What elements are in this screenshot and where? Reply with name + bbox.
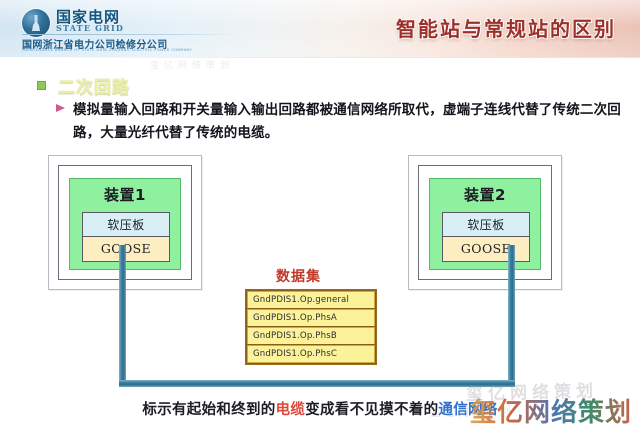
state-grid-logo-block: 国家电网 STATE GRID 国网浙江省电力公司检修分公司 MAINTENAN… [22, 6, 257, 52]
footer-part1: 标示有起始和终到的 [142, 402, 275, 418]
dataset-item: GndPDIS1.Op.PhsC [247, 345, 375, 363]
logo-company-name-en: STATE GRID [56, 23, 124, 33]
dataset-item: GndPDIS1.Op.PhsA [247, 309, 375, 326]
square-bullet-icon [37, 81, 46, 90]
slide-canvas: 国家电网 STATE GRID 国网浙江省电力公司检修分公司 MAINTENAN… [0, 0, 640, 436]
state-grid-logo-icon [22, 9, 50, 37]
slide-header: 国家电网 STATE GRID 国网浙江省电力公司检修分公司 MAINTENAN… [0, 0, 640, 58]
dataset-item: GndPDIS1.Op.PhsB [247, 327, 375, 344]
header-underline [0, 57, 640, 58]
bus-connector-horizontal [119, 380, 515, 387]
device-left-title: 装置1 [70, 184, 180, 205]
dataset-item: GndPDIS1.Op.general [247, 291, 375, 308]
dataset-list: GndPDIS1.Op.general GndPDIS1.Op.PhsA Gnd… [245, 289, 377, 365]
device-right-goose: GOOSE [442, 236, 530, 262]
device-right-title: 装置2 [430, 184, 540, 205]
logo-divider [22, 34, 237, 35]
footer-highlight-cable: 电缆 [276, 402, 306, 418]
slide-title: 智能站与常规站的区别 [396, 13, 616, 42]
device-left-goose: GOOSE [82, 236, 170, 262]
device-panel-right-inner: 装置2 软压板 GOOSE [418, 165, 552, 280]
logo-branch-name-en: MAINTENANCE BRANCH OF STATE GRID ZHEJIAN… [22, 48, 192, 52]
paragraph-text: 模拟量输入回路和开关量输入输出回路都被通信网络所取代，虚端子连线代替了传统二次回… [73, 99, 629, 145]
bus-connector-left-vertical [119, 245, 126, 387]
arrow-bullet-icon [56, 104, 65, 112]
dataset-title: 数据集 [276, 266, 321, 286]
footer-part2: 变成看不见摸不着的 [305, 402, 438, 418]
device-right-soft-plate: 软压板 [442, 212, 530, 238]
device-left-soft-plate: 软压板 [82, 212, 170, 238]
watermark-top: 玺亿网络策划 [150, 58, 234, 71]
device-box-right: 装置2 软压板 GOOSE [429, 178, 541, 270]
watermark-ghost-secondary: 玺亿网络策划 [430, 404, 514, 420]
heading-level1-text: 二次回路 [58, 73, 130, 98]
bus-connector-right-vertical [508, 245, 515, 387]
device-panel-right: 装置2 软压板 GOOSE [408, 155, 562, 290]
